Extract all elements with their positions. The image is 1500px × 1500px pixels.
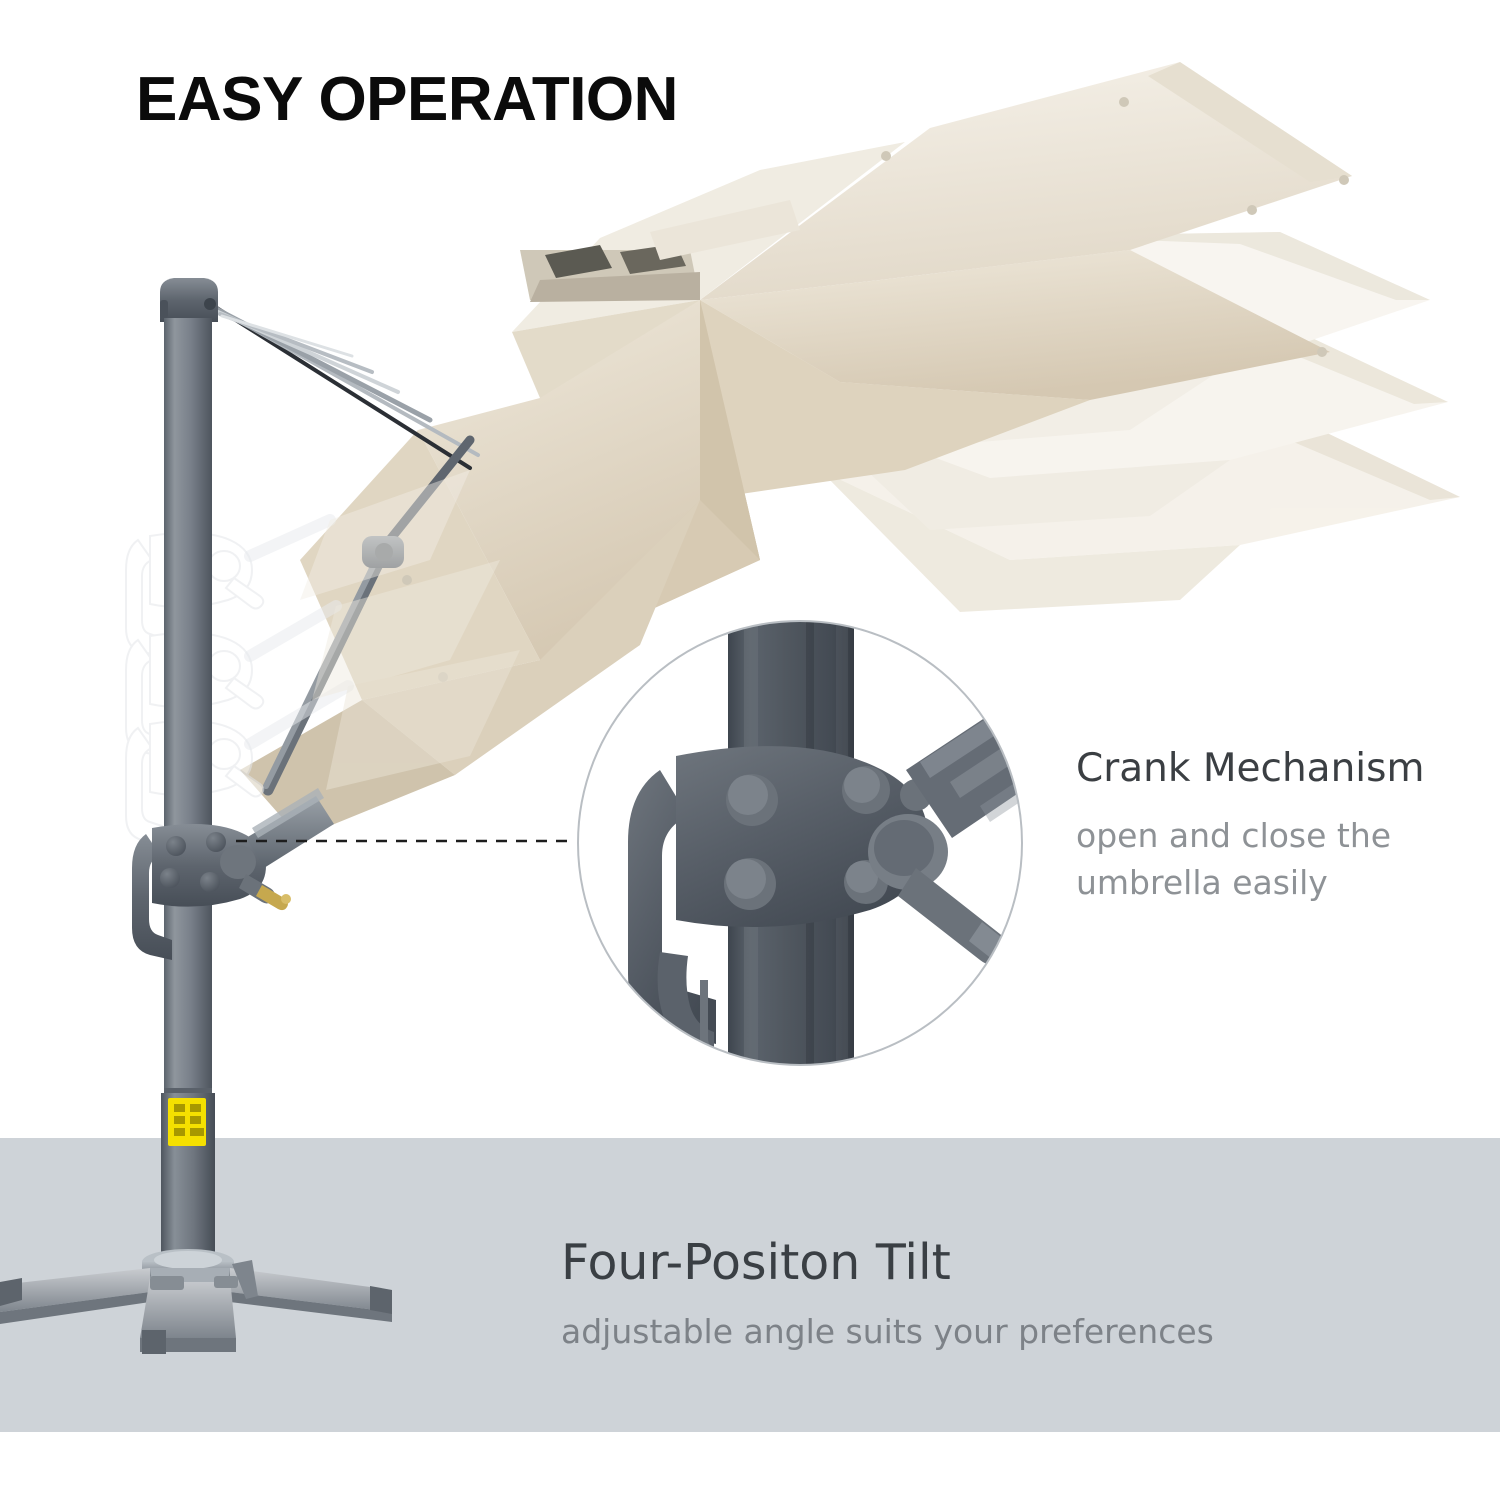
infographic-canvas: #5c646d	[0, 0, 1500, 1500]
detail-circle-inset	[578, 600, 1110, 1100]
crank-callout-subtitle: open and close the umbrella easily	[1076, 813, 1476, 907]
tilt-caption: Four-Positon Tilt adjustable angle suits…	[561, 1236, 1261, 1351]
crank-callout-subtitle-line2: umbrella easily	[1076, 860, 1476, 907]
crank-callout: Crank Mechanism open and close the umbre…	[1076, 748, 1476, 907]
crank-callout-subtitle-line1: open and close the	[1076, 813, 1476, 860]
page-title: EASY OPERATION	[136, 64, 678, 135]
tilt-caption-title: Four-Positon Tilt	[561, 1236, 1261, 1290]
tilt-caption-subtitle: adjustable angle suits your preferences	[561, 1312, 1261, 1351]
crank-callout-title: Crank Mechanism	[1076, 748, 1476, 791]
